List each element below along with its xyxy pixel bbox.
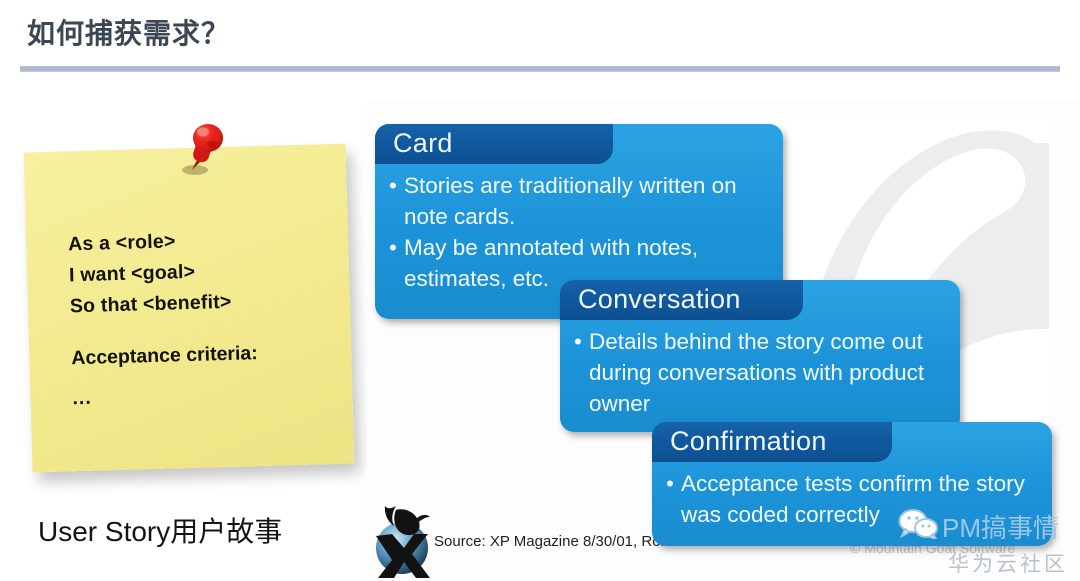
- wechat-watermark-label: PM搞事情: [942, 508, 1059, 545]
- conversation-box-title: Conversation: [578, 284, 741, 315]
- card-box-header: Card: [375, 124, 613, 164]
- title-divider: [20, 66, 1060, 72]
- card-box-title: Card: [393, 128, 453, 159]
- confirmation-box-header: Confirmation: [652, 422, 892, 462]
- user-story-template-text: As a <role> I want <goal> So that <benef…: [68, 225, 232, 322]
- conversation-box-header: Conversation: [560, 280, 803, 320]
- note-caption: User Story用户故事: [38, 510, 282, 550]
- wechat-watermark: PM搞事情: [898, 508, 1059, 545]
- user-story-note-area: As a <role> I want <goal> So that <benef…: [0, 100, 370, 581]
- conversation-box-body: Details behind the story come out during…: [574, 326, 950, 419]
- wechat-icon: [898, 509, 938, 544]
- acceptance-criteria-label: Acceptance criteria:: [71, 342, 258, 370]
- confirmation-box-title: Confirmation: [670, 426, 827, 457]
- slide-canvas: 如何捕获需求？ As a <role> I want <goal> So tha…: [0, 0, 1080, 581]
- huawei-cloud-watermark: 华为云社区: [948, 548, 1068, 578]
- conversation-bullet: Details behind the story come out during…: [574, 326, 950, 419]
- card-bullet: Stories are traditionally written on not…: [389, 170, 773, 232]
- mountain-goat-logo-icon: [372, 500, 436, 581]
- acceptance-criteria-ellipsis: ...: [72, 387, 92, 411]
- pushpin-icon: [178, 118, 232, 178]
- card-box-body: Stories are traditionally written on not…: [389, 170, 773, 294]
- conversation-box: Conversation Details behind the story co…: [560, 280, 960, 432]
- sticky-note: As a <role> I want <goal> So that <benef…: [24, 144, 355, 473]
- page-title: 如何捕获需求？: [27, 12, 230, 52]
